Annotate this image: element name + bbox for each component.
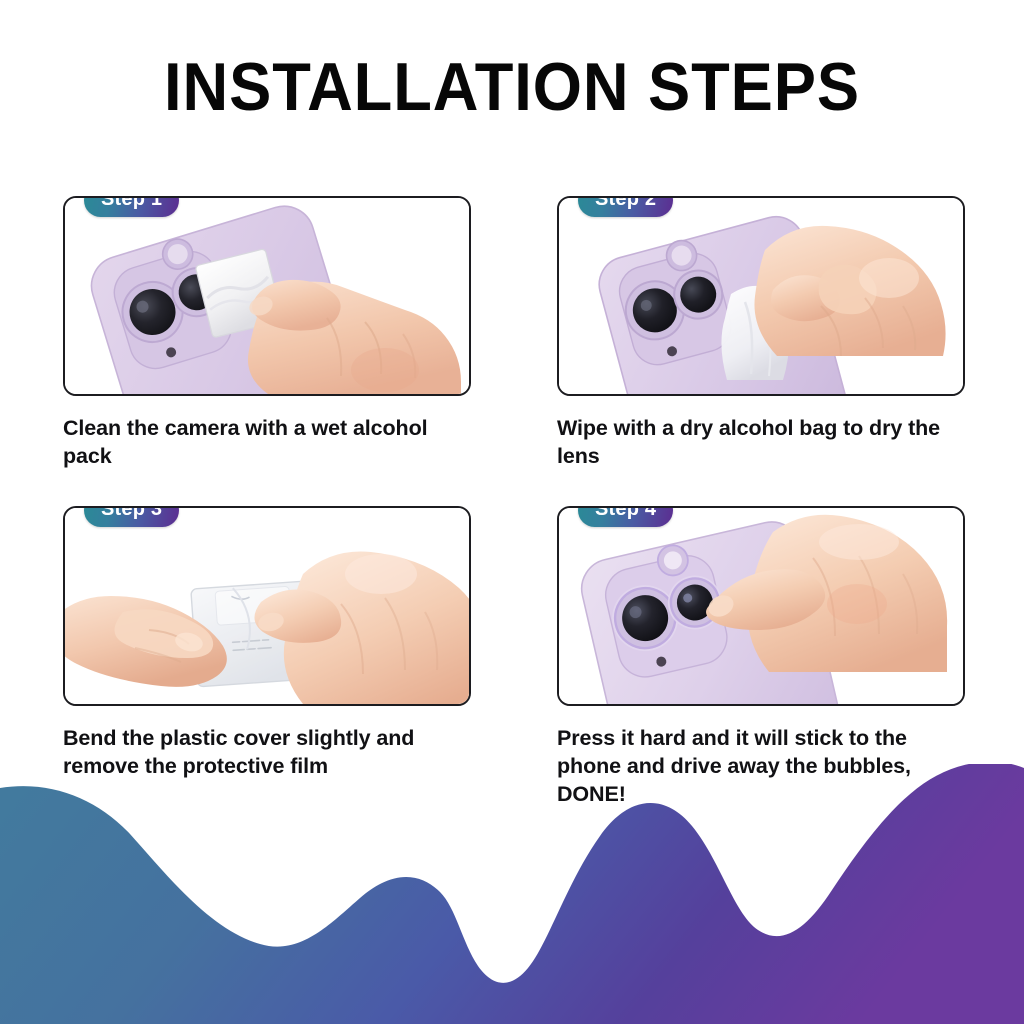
steps-grid: Step 1 Clean the camera with a wet alcoh…	[63, 196, 961, 836]
step-3-photo	[65, 508, 469, 704]
step-card-3: Step 3 Bend the plastic cover slightly a…	[63, 506, 467, 780]
step-1-photo-frame: Step 1	[63, 196, 471, 396]
step-1-badge: Step 1	[84, 196, 179, 217]
step-card-1: Step 1 Clean the camera with a wet alcoh…	[63, 196, 467, 470]
step-4-caption: Press it hard and it will stick to the p…	[557, 724, 957, 808]
step-4-photo	[559, 508, 963, 704]
step-2-photo	[559, 198, 963, 394]
step-2-photo-frame: Step 2	[557, 196, 965, 396]
step-card-4: Step 4 Press it hard and it will stick t…	[557, 506, 961, 808]
page-title: INSTALLATION STEPS	[36, 48, 988, 126]
installation-steps-page: INSTALLATION STEPS	[0, 0, 1024, 1024]
step-card-2: Step 2 Wipe with a dry alcohol bag to dr…	[557, 196, 961, 470]
step-4-photo-frame: Step 4	[557, 506, 965, 706]
step-4-badge: Step 4	[578, 506, 673, 527]
step-3-caption: Bend the plastic cover slightly and remo…	[63, 724, 463, 780]
step-1-photo	[65, 198, 469, 394]
step-3-photo-frame: Step 3	[63, 506, 471, 706]
step-3-badge: Step 3	[84, 506, 179, 527]
step-2-caption: Wipe with a dry alcohol bag to dry the l…	[557, 414, 957, 470]
step-2-badge: Step 2	[578, 196, 673, 217]
step-1-caption: Clean the camera with a wet alcohol pack	[63, 414, 463, 470]
